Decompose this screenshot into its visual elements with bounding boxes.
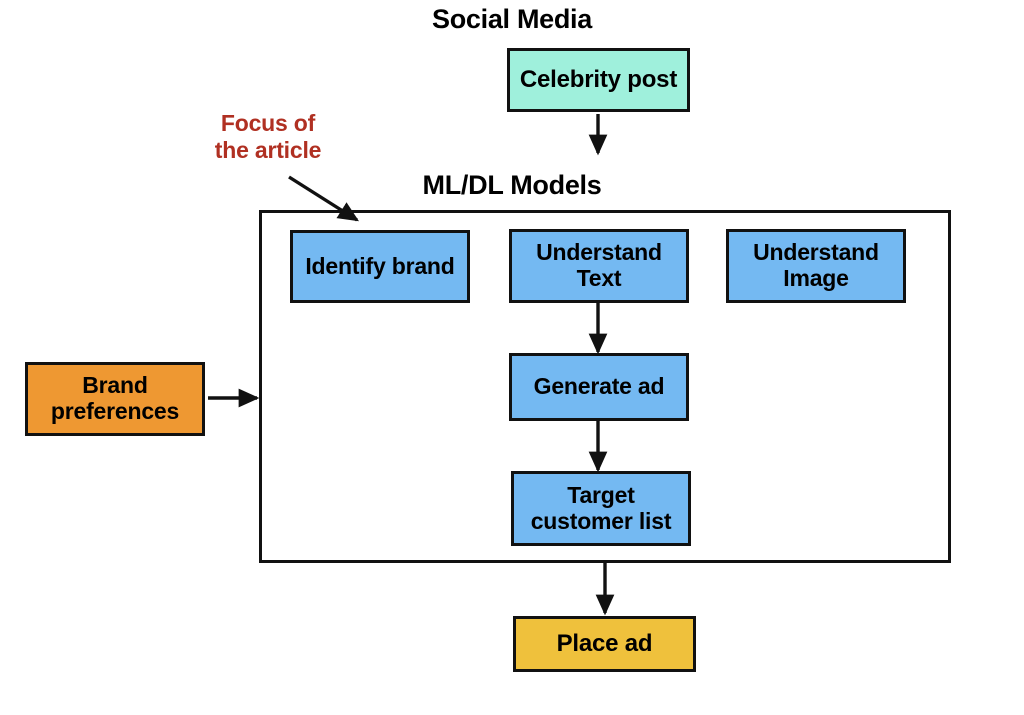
node-understand-image-line-1: Understand [753, 240, 879, 266]
node-understand-image: Understand Image [726, 229, 906, 303]
node-target-customer-list-line-2: customer list [531, 509, 672, 535]
node-place-ad: Place ad [513, 616, 696, 672]
node-brand-preferences: Brand preferences [25, 362, 205, 436]
node-celebrity-post: Celebrity post [507, 48, 690, 112]
caption-ml-dl-models: ML/DL Models [0, 170, 1024, 201]
node-brand-preferences-line-1: Brand [82, 373, 147, 399]
diagram-canvas: Social Media Celebrity post Focus of the… [0, 0, 1024, 715]
node-identify-brand: Identify brand [290, 230, 470, 303]
caption-social-media: Social Media [0, 4, 1024, 35]
node-generate-ad: Generate ad [509, 353, 689, 421]
annotation-line-2: the article [188, 137, 348, 164]
node-understand-text-line-2: Text [577, 266, 622, 292]
node-target-customer-list: Target customer list [511, 471, 691, 546]
node-target-customer-list-line-1: Target [567, 483, 634, 509]
node-understand-image-line-2: Image [783, 266, 848, 292]
annotation-line-1: Focus of [188, 110, 348, 137]
node-brand-preferences-line-2: preferences [51, 399, 179, 425]
node-understand-text-line-1: Understand [536, 240, 662, 266]
node-understand-text: Understand Text [509, 229, 689, 303]
annotation-focus-of-the-article: Focus of the article [188, 110, 348, 164]
